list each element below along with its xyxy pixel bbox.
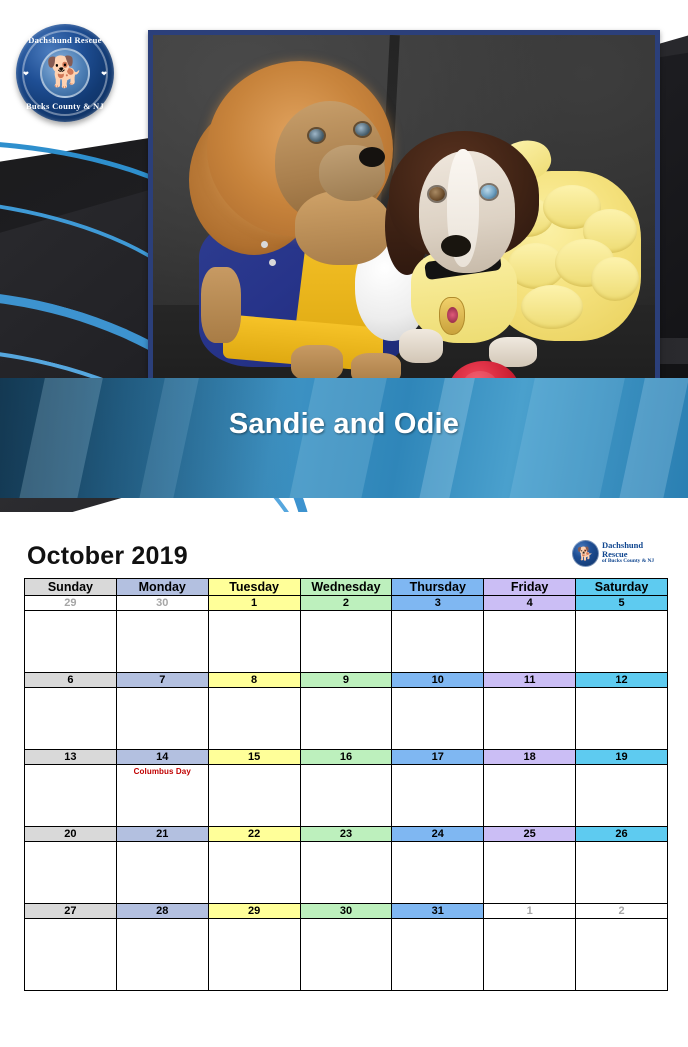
day-number-21[interactable]: 21 [116, 827, 208, 842]
day-number-19[interactable]: 19 [576, 750, 668, 765]
header-photo-panel: Dachshund Rescue 🐕 ❤ ❤ Bucks County & NJ [0, 0, 688, 512]
photo-caption: Sandie and Odie [0, 408, 688, 441]
day-number-30[interactable]: 30 [116, 596, 208, 611]
day-number-29[interactable]: 29 [25, 596, 117, 611]
day-cell-16[interactable] [300, 765, 392, 827]
day-cell-31[interactable] [392, 919, 484, 991]
beast-beard [295, 191, 391, 265]
day-cell-11[interactable] [484, 688, 576, 750]
day-cell-10[interactable] [392, 688, 484, 750]
day-cell-2[interactable] [300, 611, 392, 673]
day-number-1[interactable]: 1 [208, 596, 300, 611]
day-cell-29[interactable] [25, 611, 117, 673]
day-cell-15[interactable] [208, 765, 300, 827]
beast-paw-left [291, 345, 343, 381]
day-number-29[interactable]: 29 [208, 904, 300, 919]
calendar-header-row: SundayMondayTuesdayWednesdayThursdayFrid… [25, 579, 668, 596]
mini-logo-line1: Dachshund Rescue [602, 541, 668, 559]
belle-nose [441, 235, 471, 257]
day-number-31[interactable]: 31 [392, 904, 484, 919]
day-cell-7[interactable] [116, 688, 208, 750]
calendar-week-row: Columbus Day [25, 765, 668, 827]
featured-photo [153, 35, 655, 421]
mini-logo-line2: of Bucks County & NJ [602, 559, 668, 565]
day-number-18[interactable]: 18 [484, 750, 576, 765]
day-cell-3[interactable] [392, 611, 484, 673]
beast-leg-front [201, 267, 241, 343]
day-number-16[interactable]: 16 [300, 750, 392, 765]
heart-icon-left: ❤ [23, 70, 29, 78]
day-number-13[interactable]: 13 [25, 750, 117, 765]
beast-nose [359, 147, 385, 167]
calendar-week-row [25, 611, 668, 673]
calendar-daynumber-row: 6789101112 [25, 673, 668, 688]
belle-gown-ruffle-6 [591, 257, 639, 301]
calendar-week-row [25, 688, 668, 750]
belle-eye-right [481, 185, 497, 199]
day-cell-1[interactable] [208, 611, 300, 673]
day-cell-30[interactable] [116, 611, 208, 673]
day-number-17[interactable]: 17 [392, 750, 484, 765]
belle-eye-left [429, 187, 445, 201]
day-number-5[interactable]: 5 [576, 596, 668, 611]
day-cell-27[interactable] [25, 919, 117, 991]
day-cell-9[interactable] [300, 688, 392, 750]
day-number-20[interactable]: 20 [25, 827, 117, 842]
day-cell-24[interactable] [392, 842, 484, 904]
beast-jacket-button-2 [269, 259, 276, 266]
featured-photo-frame [148, 30, 660, 426]
day-number-3[interactable]: 3 [392, 596, 484, 611]
day-cell-13[interactable] [25, 765, 117, 827]
calendar-organization-logo: 🐕 Dachshund Rescue of Bucks County & NJ [572, 538, 668, 568]
day-cell-12[interactable] [576, 688, 668, 750]
day-cell-20[interactable] [25, 842, 117, 904]
calendar-week-row [25, 842, 668, 904]
beast-eye-right [355, 123, 370, 136]
belle-paw-left [399, 329, 443, 363]
day-number-7[interactable]: 7 [116, 673, 208, 688]
day-cell-6[interactable] [25, 688, 117, 750]
calendar-daynumber-row: 293012345 [25, 596, 668, 611]
day-number-8[interactable]: 8 [208, 673, 300, 688]
photo-caption-band: Sandie and Odie [0, 378, 688, 498]
logo-bottom-text: Bucks County & NJ [16, 101, 114, 111]
weekday-header-thursday: Thursday [392, 579, 484, 596]
beast-jacket-button-1 [261, 241, 268, 248]
weekday-header-wednesday: Wednesday [300, 579, 392, 596]
day-number-9[interactable]: 9 [300, 673, 392, 688]
heart-icon-right: ❤ [101, 70, 107, 78]
logo-top-text: Dachshund Rescue [16, 35, 114, 45]
calendar-week-row [25, 919, 668, 991]
day-cell-18[interactable] [484, 765, 576, 827]
weekday-header-monday: Monday [116, 579, 208, 596]
day-cell-28[interactable] [116, 919, 208, 991]
calendar-page: Dachshund Rescue 🐕 ❤ ❤ Bucks County & NJ [0, 0, 688, 1047]
day-cell-1[interactable] [484, 919, 576, 991]
day-number-11[interactable]: 11 [484, 673, 576, 688]
day-cell-21[interactable] [116, 842, 208, 904]
weekday-header-sunday: Sunday [25, 579, 117, 596]
calendar-daynumber-row: 13141516171819 [25, 750, 668, 765]
day-number-23[interactable]: 23 [300, 827, 392, 842]
day-number-28[interactable]: 28 [116, 904, 208, 919]
day-number-14[interactable]: 14 [116, 750, 208, 765]
dog-belle-costume [385, 131, 647, 403]
calendar-daynumber-row: 20212223242526 [25, 827, 668, 842]
calendar-title: October 2019 [27, 542, 188, 571]
day-number-22[interactable]: 22 [208, 827, 300, 842]
day-cell-14[interactable]: Columbus Day [116, 765, 208, 827]
belle-gown-ruffle-7 [521, 285, 583, 329]
calendar-daynumber-row: 272829303112 [25, 904, 668, 919]
organization-logo: Dachshund Rescue 🐕 ❤ ❤ Bucks County & NJ [16, 24, 114, 122]
mini-logo-badge: 🐕 [572, 540, 599, 567]
day-cell-17[interactable] [392, 765, 484, 827]
day-number-25[interactable]: 25 [484, 827, 576, 842]
day-cell-25[interactable] [484, 842, 576, 904]
day-number-2[interactable]: 2 [576, 904, 668, 919]
beast-eye-left [309, 129, 324, 142]
calendar-event-label[interactable]: Columbus Day [117, 767, 208, 776]
weekday-header-friday: Friday [484, 579, 576, 596]
day-cell-8[interactable] [208, 688, 300, 750]
day-number-12[interactable]: 12 [576, 673, 668, 688]
day-cell-2[interactable] [576, 919, 668, 991]
day-number-27[interactable]: 27 [25, 904, 117, 919]
day-number-6[interactable]: 6 [25, 673, 117, 688]
calendar-grid: SundayMondayTuesdayWednesdayThursdayFrid… [24, 578, 668, 991]
belle-rose-pendant [439, 297, 465, 335]
dachshund-dog-icon-small: 🐕 [577, 547, 593, 560]
day-number-2[interactable]: 2 [300, 596, 392, 611]
day-number-24[interactable]: 24 [392, 827, 484, 842]
day-number-30[interactable]: 30 [300, 904, 392, 919]
day-cell-5[interactable] [576, 611, 668, 673]
day-cell-22[interactable] [208, 842, 300, 904]
day-number-26[interactable]: 26 [576, 827, 668, 842]
weekday-header-saturday: Saturday [576, 579, 668, 596]
day-number-10[interactable]: 10 [392, 673, 484, 688]
day-cell-23[interactable] [300, 842, 392, 904]
day-cell-30[interactable] [300, 919, 392, 991]
day-cell-29[interactable] [208, 919, 300, 991]
day-number-15[interactable]: 15 [208, 750, 300, 765]
day-cell-19[interactable] [576, 765, 668, 827]
calendar-section: October 2019 🐕 Dachshund Rescue of Bucks… [0, 512, 688, 1047]
day-cell-4[interactable] [484, 611, 576, 673]
day-number-1[interactable]: 1 [484, 904, 576, 919]
mini-logo-text: Dachshund Rescue of Bucks County & NJ [602, 541, 668, 565]
day-number-4[interactable]: 4 [484, 596, 576, 611]
weekday-header-tuesday: Tuesday [208, 579, 300, 596]
day-cell-26[interactable] [576, 842, 668, 904]
